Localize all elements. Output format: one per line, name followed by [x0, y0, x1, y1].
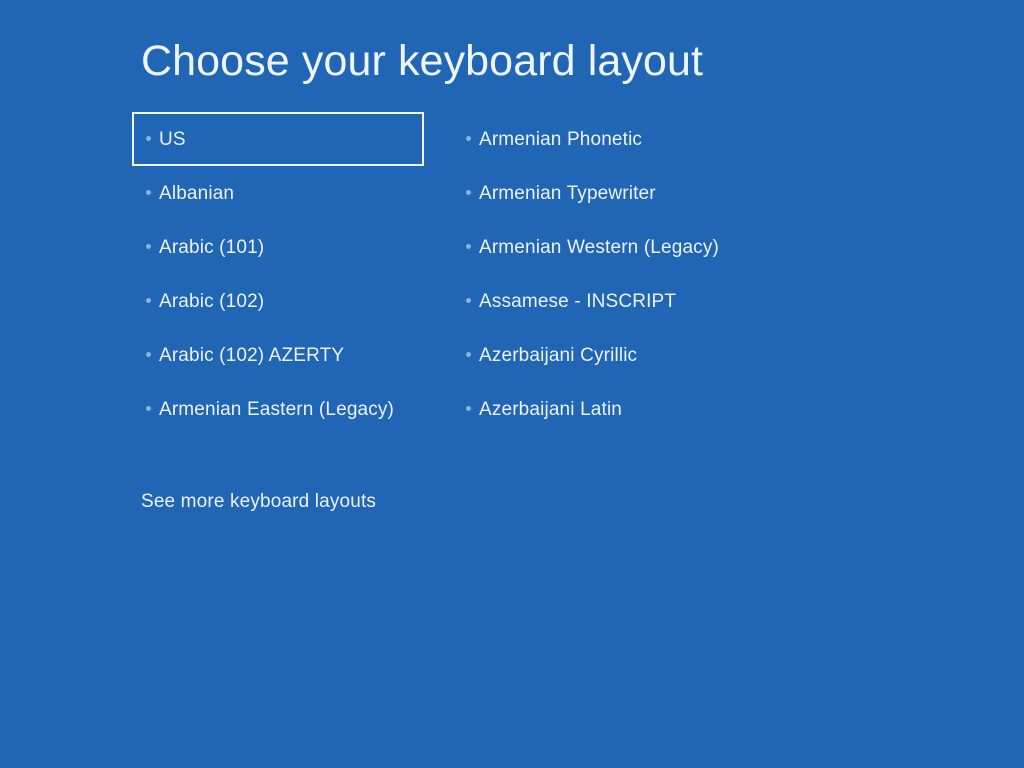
bullet-icon	[146, 190, 151, 195]
bullet-icon	[466, 136, 471, 141]
keyboard-layout-option-label: Arabic (102) AZERTY	[159, 346, 344, 365]
keyboard-layout-option-label: Armenian Typewriter	[479, 184, 656, 203]
keyboard-layout-option-albanian[interactable]: Albanian	[132, 166, 424, 220]
keyboard-layout-option-armenian-eastern-legacy[interactable]: Armenian Eastern (Legacy)	[132, 382, 424, 436]
keyboard-layout-column-right: Armenian Phonetic Armenian Typewriter Ar…	[456, 112, 796, 436]
keyboard-layout-option-label: Arabic (102)	[159, 292, 264, 311]
keyboard-layout-option-assamese-inscript[interactable]: Assamese - INSCRIPT	[456, 274, 786, 328]
keyboard-layout-option-us[interactable]: US	[132, 112, 424, 166]
keyboard-layout-option-azerbaijani-latin[interactable]: Azerbaijani Latin	[456, 382, 786, 436]
keyboard-layout-option-label: Armenian Eastern (Legacy)	[159, 400, 394, 419]
page-title: Choose your keyboard layout	[141, 38, 703, 85]
bullet-icon	[146, 244, 151, 249]
keyboard-layout-option-arabic-102[interactable]: Arabic (102)	[132, 274, 424, 328]
keyboard-layout-option-label: Armenian Western (Legacy)	[479, 238, 719, 257]
keyboard-layout-option-armenian-phonetic[interactable]: Armenian Phonetic	[456, 112, 786, 166]
keyboard-layout-option-label: Albanian	[159, 184, 234, 203]
bullet-icon	[466, 352, 471, 357]
bullet-icon	[146, 406, 151, 411]
keyboard-layout-option-label: Assamese - INSCRIPT	[479, 292, 676, 311]
bullet-icon	[466, 190, 471, 195]
keyboard-layout-option-armenian-western-legacy[interactable]: Armenian Western (Legacy)	[456, 220, 786, 274]
see-more-keyboard-layouts-link[interactable]: See more keyboard layouts	[141, 492, 376, 511]
bullet-icon	[466, 406, 471, 411]
keyboard-layout-option-label: Azerbaijani Cyrillic	[479, 346, 637, 365]
keyboard-layout-option-arabic-102-azerty[interactable]: Arabic (102) AZERTY	[132, 328, 424, 382]
bullet-icon	[146, 298, 151, 303]
keyboard-layout-screen: Choose your keyboard layout US Albanian …	[0, 0, 1024, 768]
bullet-icon	[146, 136, 151, 141]
keyboard-layout-option-azerbaijani-cyrillic[interactable]: Azerbaijani Cyrillic	[456, 328, 786, 382]
keyboard-layout-option-label: Azerbaijani Latin	[479, 400, 622, 419]
bullet-icon	[466, 244, 471, 249]
keyboard-layout-option-arabic-101[interactable]: Arabic (101)	[132, 220, 424, 274]
keyboard-layout-option-label: Armenian Phonetic	[479, 130, 642, 149]
bullet-icon	[466, 298, 471, 303]
bullet-icon	[146, 352, 151, 357]
keyboard-layout-column-left: US Albanian Arabic (101) Arabic (102) Ar…	[132, 112, 432, 436]
keyboard-layout-option-label: US	[159, 130, 186, 149]
keyboard-layout-option-armenian-typewriter[interactable]: Armenian Typewriter	[456, 166, 786, 220]
keyboard-layout-option-label: Arabic (101)	[159, 238, 264, 257]
